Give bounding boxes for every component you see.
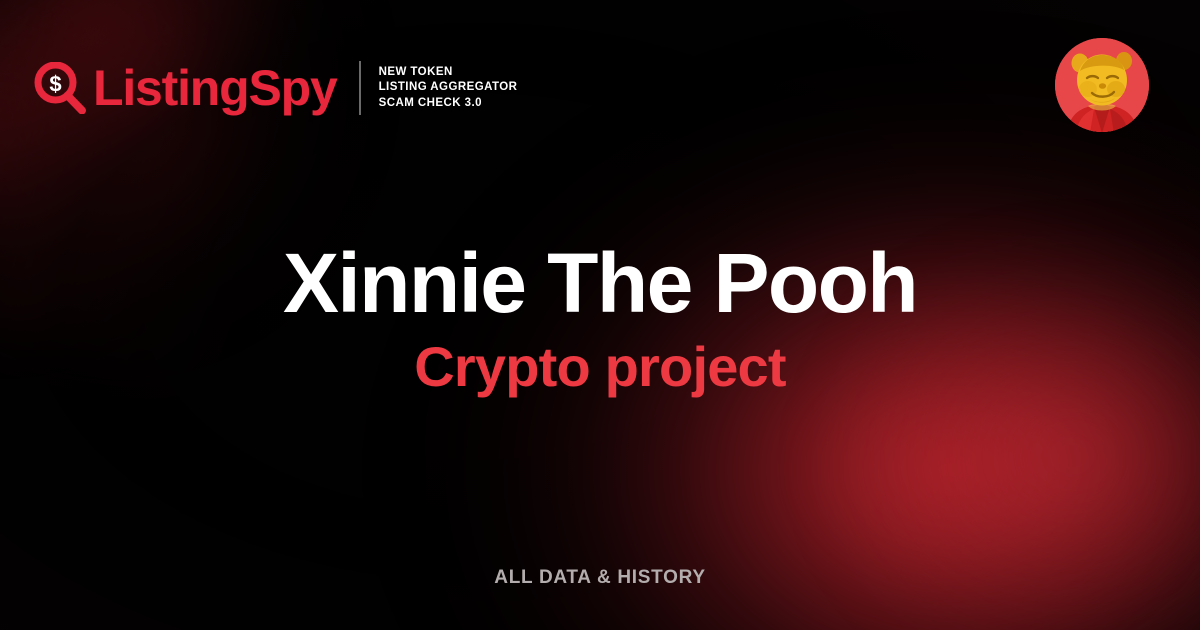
footer: ALL DATA & HISTORY — [0, 567, 1200, 589]
avatar[interactable] — [1054, 37, 1150, 133]
page-canvas: $ ListingSpy NEW TOKEN LISTING AGGREGATO… — [0, 0, 1200, 630]
footer-label: ALL DATA & HISTORY — [494, 567, 705, 588]
tagline-line-2: LISTING AGGREGATOR — [379, 81, 518, 93]
brand-wordmark: ListingSpy — [93, 63, 337, 113]
pooh-avatar-icon — [1054, 37, 1150, 133]
brand-logo[interactable]: $ ListingSpy NEW TOKEN LISTING AGGREGATO… — [34, 52, 517, 124]
project-heading-block: Xinnie The Pooh Crypto project — [0, 236, 1200, 400]
brand-tagline: NEW TOKEN LISTING AGGREGATOR SCAM CHECK … — [379, 65, 518, 112]
brand-divider — [359, 61, 361, 115]
page-title: Xinnie The Pooh — [0, 236, 1200, 330]
tagline-line-1: NEW TOKEN — [379, 66, 453, 78]
header: $ ListingSpy NEW TOKEN LISTING AGGREGATO… — [0, 0, 1200, 170]
tagline-line-3: SCAM CHECK 3.0 — [379, 97, 482, 109]
magnifier-dollar-icon: $ — [34, 62, 86, 114]
svg-text:$: $ — [49, 72, 61, 97]
page-subtitle: Crypto project — [0, 334, 1200, 400]
